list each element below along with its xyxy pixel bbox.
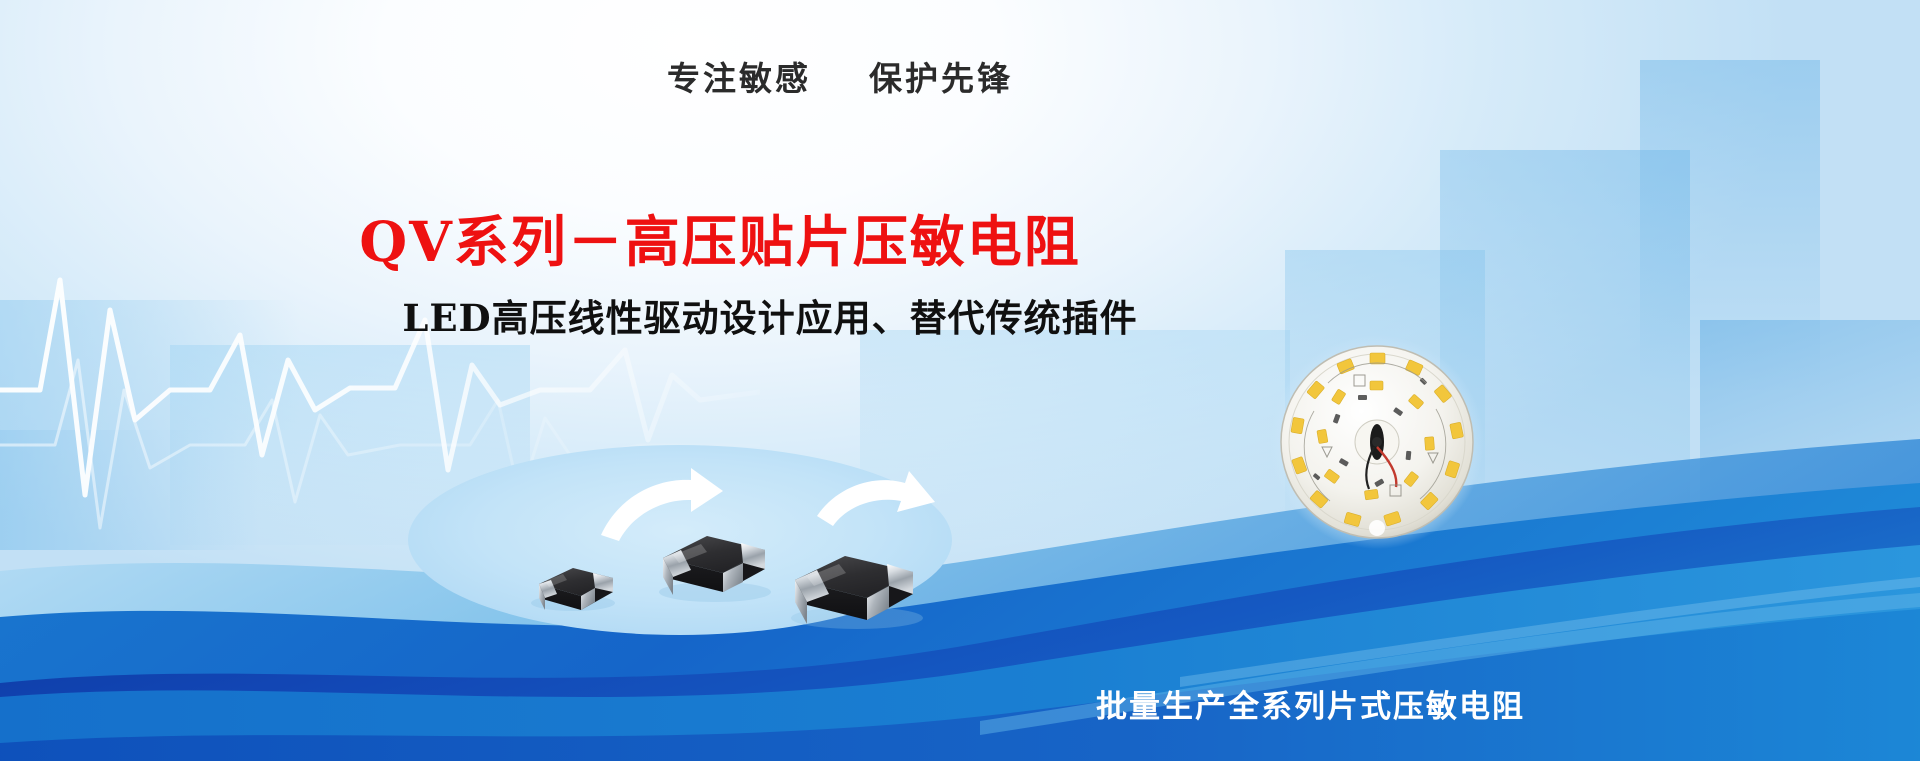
page-subtitle: LED高压线性驱动设计应用、替代传统插件 [0,288,1730,342]
slogan-right: 保护先锋 [869,59,1013,98]
footnote-text: 批量生产全系列片式压敏电阻 [0,681,1920,726]
product-stage [405,440,965,640]
led-pcb-module [1270,335,1485,550]
slogan: 专注敏感保护先锋 [0,52,1800,100]
product-banner: 专注敏感保护先锋 QV系列－高压贴片压敏电阻 LED高压线性驱动设计应用、替代传… [0,0,1920,761]
slogan-left: 专注敏感 [667,59,811,98]
page-title: QV系列－高压贴片压敏电阻 [0,197,1680,277]
